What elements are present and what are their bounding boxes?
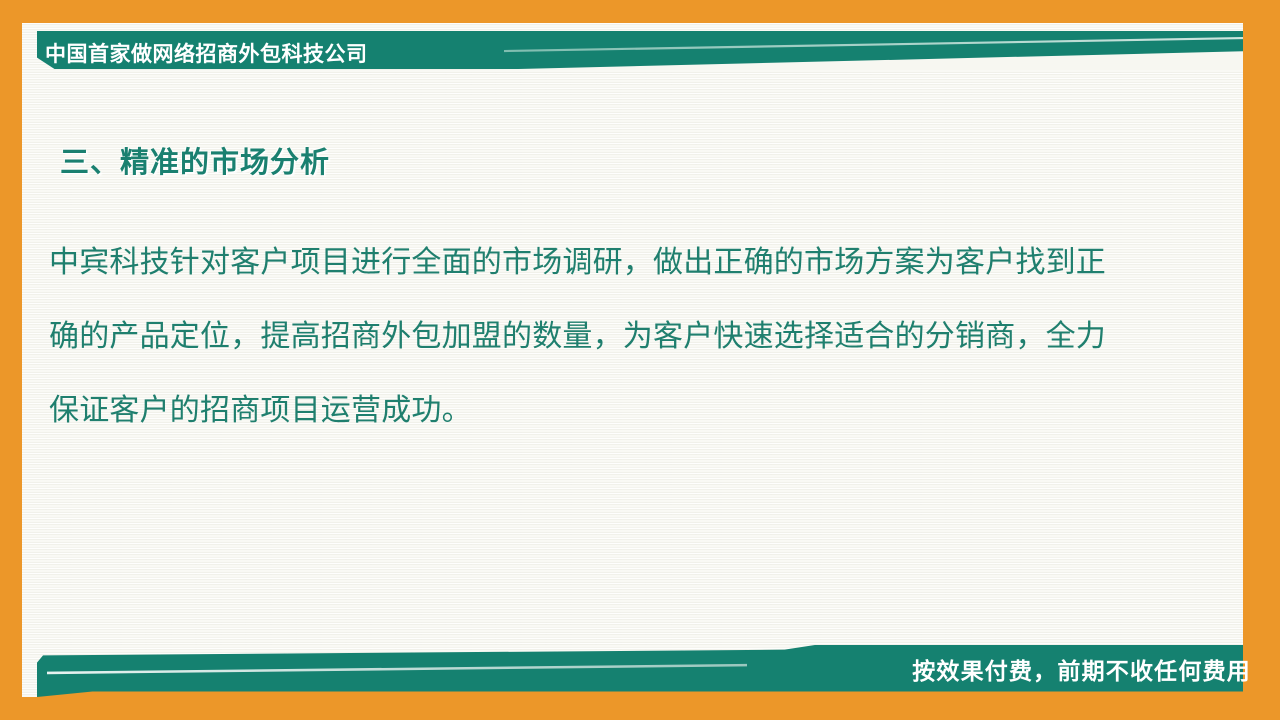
header-title: 中国首家做网络招商外包科技公司 (45, 38, 368, 68)
slide-canvas: 中国首家做网络招商外包科技公司 三、精准的市场分析 中宾科技针对客户项目进行全面… (0, 0, 1280, 720)
paragraph-line: 确的产品定位，提高招商外包加盟的数量，为客户快速选择适合的分销商，全力 (49, 300, 1184, 374)
body-paragraph: 中宾科技针对客户项目进行全面的市场调研，做出正确的市场方案为客户找到正 确的产品… (49, 226, 1184, 448)
footer-tagline: 按效果付费，前期不收任何费用 (912, 652, 1251, 686)
paragraph-line: 保证客户的招商项目运营成功。 (49, 374, 1184, 448)
paragraph-line: 中宾科技针对客户项目进行全面的市场调研，做出正确的市场方案为客户找到正 (49, 226, 1184, 300)
page-title: 三、精准的市场分析 (60, 139, 330, 181)
